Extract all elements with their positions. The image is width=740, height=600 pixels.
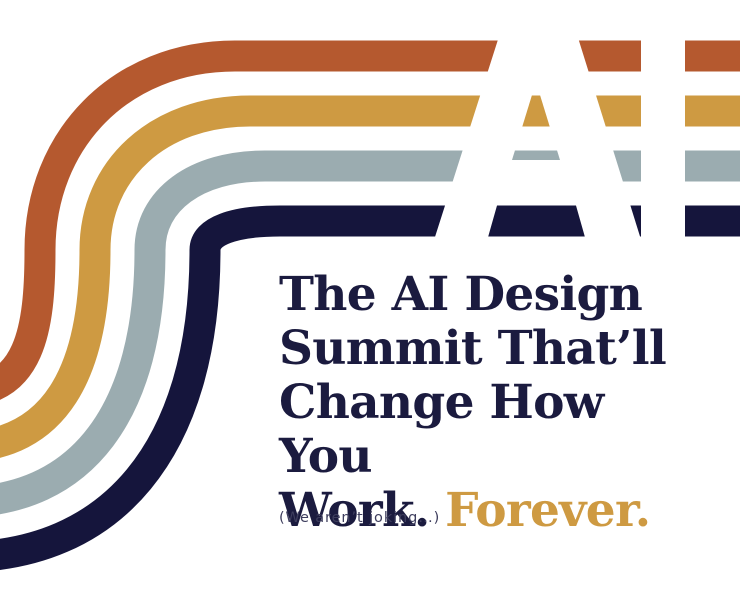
headline-line-2: Summit That’ll [279,321,666,376]
headline-line-1: The AI Design [279,267,642,322]
headline-line-3: Change How You [279,375,604,484]
poster-canvas: The AI Design Summit That’ll Change How … [0,0,740,600]
page-title: The AI Design Summit That’ll Change How … [279,268,699,538]
subtitle: (We aren’t joking…) [279,510,440,526]
headline-block: The AI Design Summit That’ll Change How … [279,268,699,538]
headline-accent-word: Forever. [445,483,650,538]
